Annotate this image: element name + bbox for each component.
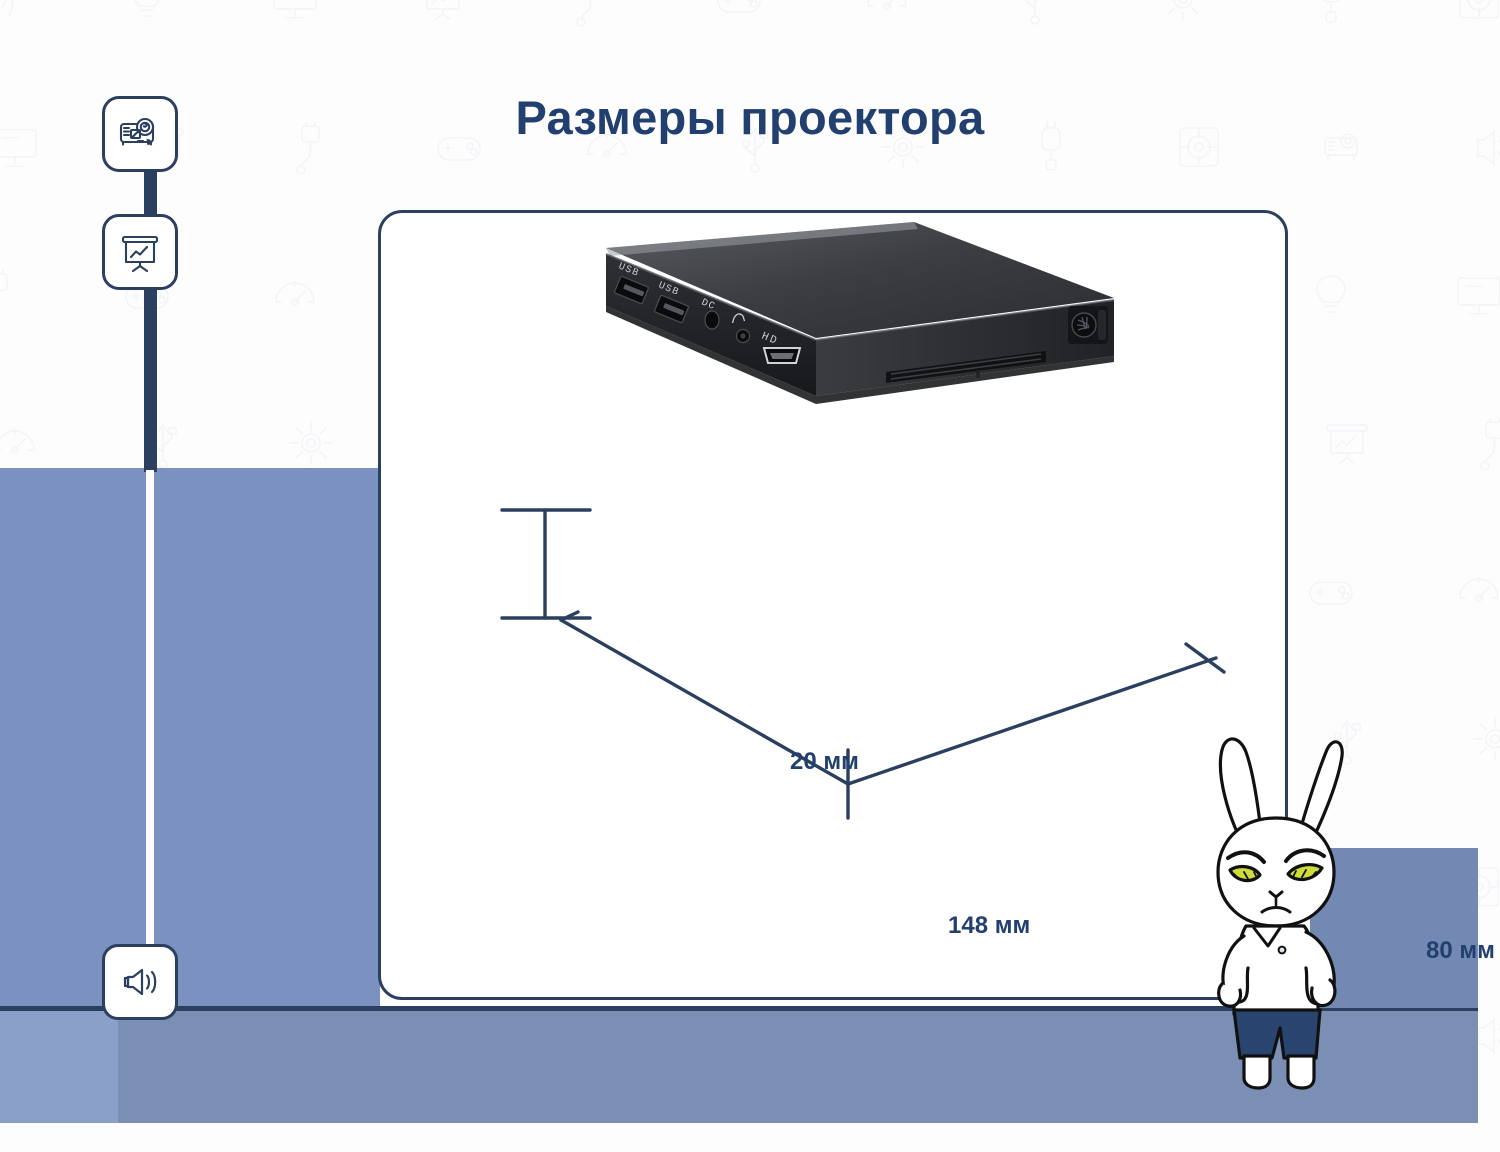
dimension-label-depth: 80 мм [1426,937,1495,965]
monitor-icon [1450,266,1500,324]
gear-icon [1154,0,1212,28]
fan-vent [1068,306,1108,344]
dimension-label-height: 20 мм [790,748,859,776]
projector-dimension-figure: USB USB DC [378,210,1288,1000]
gauge-icon [858,0,916,28]
bulb-icon [1302,266,1360,324]
badge-presentation-screen[interactable] [102,214,178,290]
gauge-icon [0,414,44,472]
dimension-label-width: 148 мм [948,912,1030,940]
badge-speaker[interactable] [102,944,178,1020]
gamepad-icon [1302,562,1360,620]
presentation-icon [414,0,472,28]
poster-canvas: Размеры проектора [0,0,1500,1152]
decor-block-left [0,468,380,1006]
connector-rail-light [146,470,154,944]
dimension-lines [502,510,1224,818]
gear-icon [1466,710,1500,768]
presentation-screen-icon [116,228,164,276]
projector-illustration: USB USB DC [378,210,1288,1000]
target-icon [1450,0,1500,28]
rabbit-mascot [1188,722,1364,1090]
usb-icon [1006,0,1064,28]
gamepad-icon [710,0,768,28]
usb-icon [134,414,192,472]
gauge-icon [1450,562,1500,620]
projector-body: USB USB DC [606,222,1114,404]
bulb-icon [118,0,176,28]
speaker-icon [0,0,28,28]
speaker-icon [116,958,164,1006]
page-title: Размеры проектора [0,90,1500,145]
presentation-icon [1318,414,1376,472]
plug-icon [1302,0,1360,28]
cable-icon [0,266,28,324]
cable-icon [562,0,620,28]
decor-block-bottom-left [0,1006,118,1123]
cable-icon [1466,414,1500,472]
monitor-icon [266,0,324,28]
gear-icon [282,414,340,472]
gauge-icon [266,266,324,324]
